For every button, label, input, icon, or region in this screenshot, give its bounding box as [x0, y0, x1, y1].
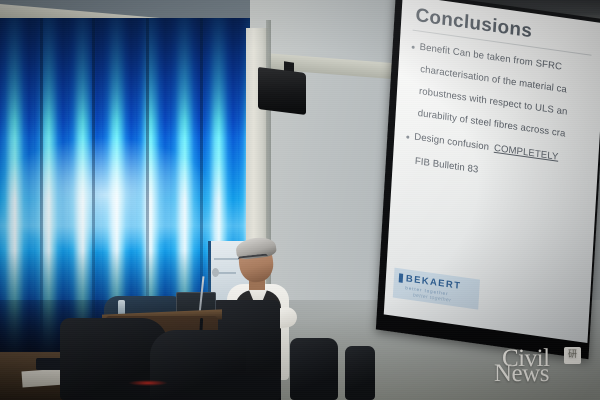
papers — [21, 369, 64, 388]
wall-speaker-icon — [258, 67, 306, 115]
slide-bullet-2-emphasis: COMPLETELY — [494, 143, 559, 163]
bullet-dot-icon — [412, 46, 415, 49]
screen-surface: Conclusions Benefit Can be taken from SF… — [384, 0, 600, 343]
projection-screen: Conclusions Benefit Can be taken from SF… — [376, 0, 600, 364]
chair — [150, 330, 246, 400]
bullet-dot-icon — [406, 135, 409, 138]
microphone-icon — [212, 268, 219, 277]
indicator-light — [128, 380, 168, 386]
chair — [290, 338, 338, 400]
chair — [345, 346, 375, 400]
watermark-line-2: News — [494, 361, 549, 386]
slide-bullet-2-cont-1: FIB Bulletin 83 — [415, 156, 479, 176]
watermark-badge-icon: 研 — [564, 347, 581, 364]
slide: Conclusions Benefit Can be taken from SF… — [384, 0, 600, 343]
bekaert-mark-icon — [399, 273, 404, 283]
curtain-top-shading — [0, 18, 250, 138]
presentation-photo: Conclusions Benefit Can be taken from SF… — [0, 0, 600, 400]
watermark: Civil 研 News — [492, 346, 596, 394]
slide-bullet-2-text: Design confusion — [414, 132, 489, 153]
